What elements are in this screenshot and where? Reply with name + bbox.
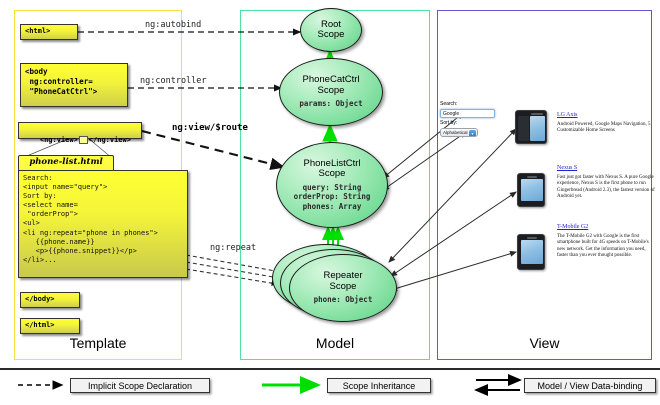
phone-entry-title-1[interactable]: LG Axis — [557, 112, 578, 118]
panel-label-view: View — [437, 335, 652, 351]
view-search-input-value: Google — [443, 111, 459, 117]
template-file-name: phone-list.html — [19, 156, 113, 169]
edge-label-ng-autobind: ng:autobind — [145, 20, 201, 30]
code-body-tag: <body ng:controller= "PhoneCatCtrl"> — [20, 63, 128, 107]
edge-label-ng-controller: ng:controller — [140, 76, 207, 86]
scope-root-title-2: Scope — [318, 29, 345, 40]
panel-label-template: Template — [14, 335, 182, 351]
scope-phonelistctrl-title-2: Scope — [319, 168, 346, 179]
scope-repeater-props: phone: Object — [314, 295, 373, 304]
ngview-close-tag: </ng:view> — [89, 136, 131, 144]
edge-label-ng-view-route: ng:view/$route — [172, 123, 248, 133]
template-file-tab: phone-list.html — [18, 155, 114, 171]
legend-item-implicit-scope-declaration: Implicit Scope Declaration — [70, 378, 210, 393]
scope-phonecatctrl-title-1: PhoneCatCtrl — [302, 74, 359, 85]
scope-repeater: Repeater Scope phone: Object — [289, 254, 397, 322]
phone-thumbnail-1 — [515, 110, 547, 144]
code-html-open: <html> — [20, 24, 78, 40]
diagram-canvas: Template Model View — [0, 0, 660, 405]
scope-repeater-title-1: Repeater — [323, 270, 362, 281]
phone-entry-title-3[interactable]: T-Mobile G2 — [557, 224, 588, 230]
ngview-open-tag: <ng:view> — [40, 136, 78, 144]
phone-entry-snippet-1: Android Powered, Google Maps Navigation,… — [557, 122, 655, 135]
scope-repeater-title-2: Scope — [330, 281, 357, 292]
phone-entry-title-2[interactable]: Nexus S — [557, 165, 577, 171]
code-html-close: </html> — [20, 318, 80, 334]
phone-entry-snippet-3: The T-Mobile G2 with Google is the first… — [557, 234, 655, 259]
scope-root: Root Scope — [300, 8, 362, 52]
ngview-content-placeholder — [79, 136, 88, 144]
template-file-code: Search: <input name="query"> Sort by: <s… — [18, 170, 188, 278]
panel-label-model: Model — [240, 335, 430, 351]
scope-phonelistctrl-props: query: String orderProp: String phones: … — [294, 183, 371, 211]
scope-phonecatctrl-props: params: Object — [299, 99, 362, 108]
phone-thumbnail-2 — [517, 173, 545, 207]
chevron-down-icon: ▾ — [469, 130, 476, 137]
code-body-close: </body> — [20, 292, 80, 308]
legend-divider — [0, 368, 660, 370]
view-sort-label: Sort by: — [440, 120, 457, 126]
phone-entry-snippet-2: Fast just got faster with Nexus S. A pur… — [557, 175, 655, 200]
view-search-input[interactable]: Google — [440, 109, 495, 118]
scope-phonelistctrl: PhoneListCtrl Scope query: String orderP… — [276, 142, 388, 228]
scope-phonecatctrl: PhoneCatCtrl Scope params: Object — [279, 58, 383, 126]
scope-phonecatctrl-title-2: Scope — [318, 85, 345, 96]
view-search-label: Search: — [440, 101, 457, 107]
view-sort-select-value: Alphabetical — [443, 130, 468, 135]
edge-label-ng-repeat: ng:repeat — [210, 243, 256, 253]
phone-thumbnail-3 — [517, 234, 545, 270]
scope-phonelistctrl-title-1: PhoneListCtrl — [303, 158, 360, 169]
template-file-callout: phone-list.html Search: <input name="que… — [18, 155, 188, 280]
code-ngview-box: <ng:view></ng:view> — [18, 122, 142, 139]
legend-item-scope-inheritance: Scope Inheritance — [327, 378, 431, 393]
scope-root-title-1: Root — [321, 19, 341, 30]
view-sort-select[interactable]: Alphabetical ▾ — [440, 128, 478, 137]
legend-item-model-view-data-binding: Model / View Data-binding — [524, 378, 656, 393]
